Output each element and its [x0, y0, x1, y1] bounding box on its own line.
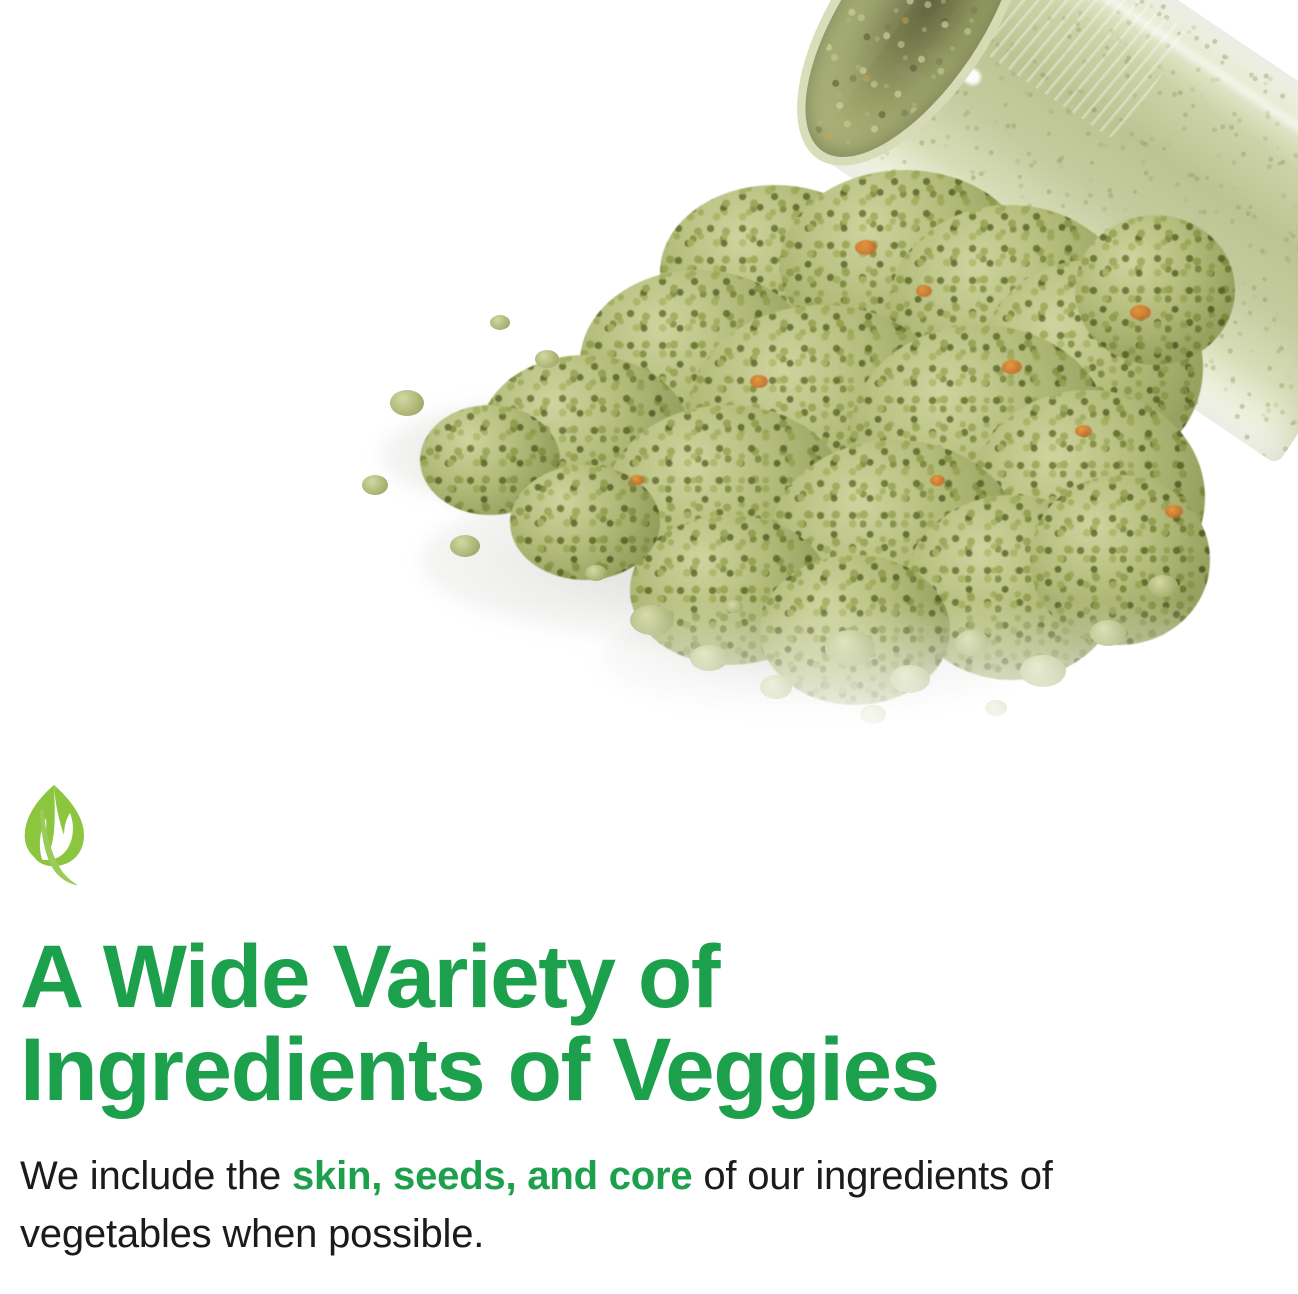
powder-pile [330, 175, 1200, 735]
description-before: We include the [20, 1154, 292, 1198]
page-title: A Wide Variety of Ingredients of Veggies [20, 930, 1140, 1117]
leaf-icon [20, 783, 90, 888]
feature-text-block: A Wide Variety of Ingredients of Veggies… [20, 783, 1140, 1263]
description-highlight: skin, seeds, and core [292, 1154, 692, 1198]
hero-product-photo [0, 0, 1298, 790]
feature-description: We include the skin, seeds, and core of … [20, 1147, 1140, 1263]
product-feature-page: A Wide Variety of Ingredients of Veggies… [0, 0, 1298, 1294]
